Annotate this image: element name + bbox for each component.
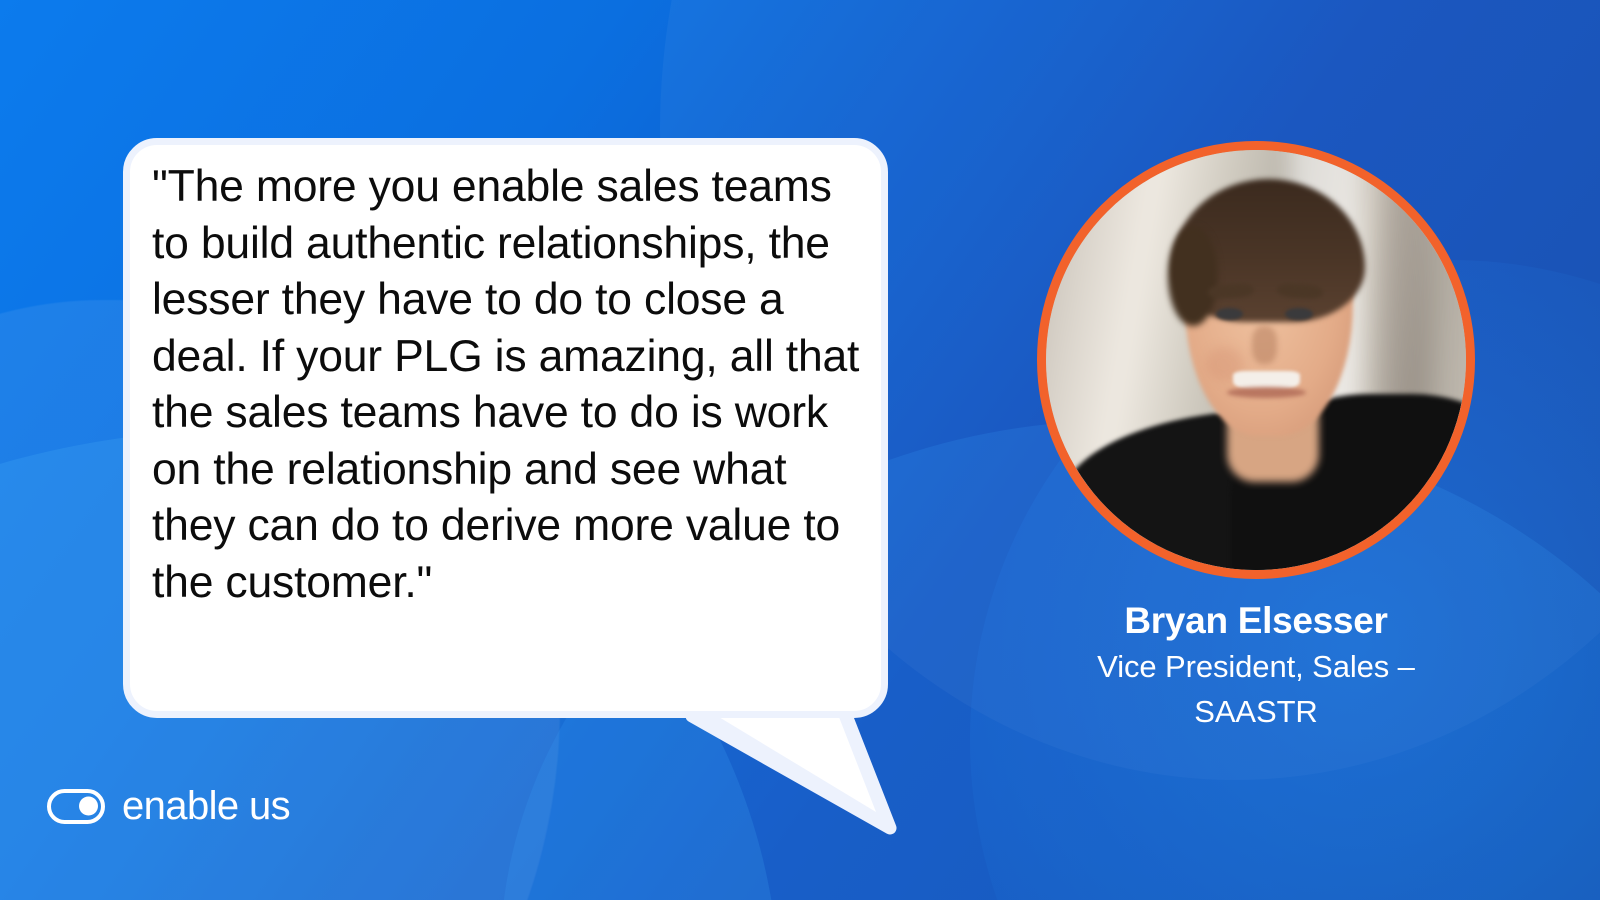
- photo-eye-right: [1285, 308, 1312, 321]
- speech-bubble: "The more you enable sales teams to buil…: [123, 138, 888, 718]
- brand-logo-text: enable us: [122, 786, 290, 826]
- quote-text: "The more you enable sales teams to buil…: [152, 159, 864, 611]
- quote-card: "The more you enable sales teams to buil…: [0, 0, 1600, 900]
- toggle-switch-icon: [47, 789, 105, 824]
- person-name: Bryan Elsesser: [1016, 598, 1496, 644]
- avatar-photo: [1046, 150, 1466, 570]
- person-title: Vice President, Sales – SAASTR: [1016, 644, 1496, 734]
- brand-logo[interactable]: enable us: [47, 786, 290, 826]
- photo-nose: [1252, 326, 1277, 364]
- photo-hair-side: [1168, 226, 1218, 327]
- speech-bubble-tail: [690, 700, 910, 860]
- attribution: Bryan Elsesser Vice President, Sales – S…: [1016, 598, 1496, 734]
- toggle-switch-knob: [79, 797, 98, 816]
- avatar: [1037, 141, 1475, 579]
